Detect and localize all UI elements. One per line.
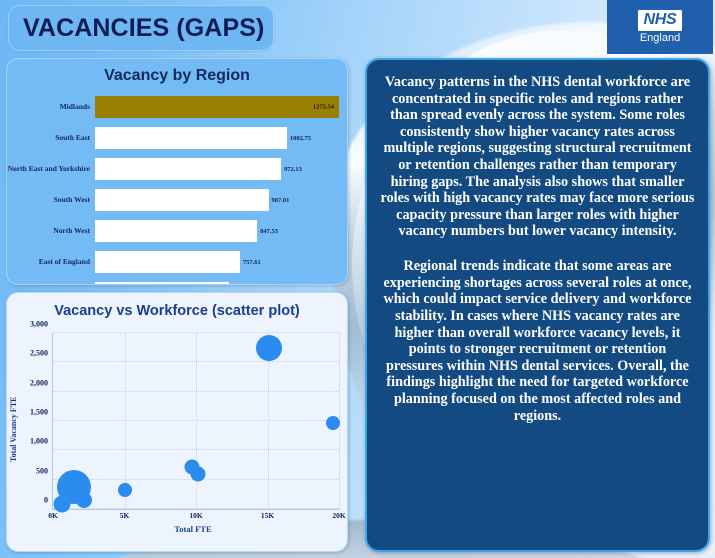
x-axis-tick-label: 5K [120, 509, 130, 520]
scatter-bubble[interactable] [256, 335, 282, 361]
y-axis-tick-label: 500 [36, 466, 53, 475]
bar-row[interactable]: East of England757.61 [7, 247, 339, 277]
scatter-bubble[interactable] [326, 416, 340, 430]
bar-fill[interactable] [95, 282, 229, 285]
page-title-label: VACANCIES (GAPS) [23, 14, 264, 43]
y-axis-tick-label: 0 [44, 496, 53, 505]
page-title: VACANCIES (GAPS) [8, 5, 274, 51]
scatter-bubble[interactable] [53, 496, 70, 513]
bar-fill[interactable] [95, 251, 240, 273]
bar-track: 1275.54 [95, 96, 339, 118]
bar-row[interactable]: North East and Yorkshire972.13 [7, 154, 339, 184]
dashboard-root: VACANCIES (GAPS) NHS England Vacancy by … [0, 0, 715, 558]
insight-paragraph-2: Regional trends indicate that some areas… [379, 258, 696, 424]
y-axis-tick-label: 3,000 [30, 320, 53, 329]
y-axis-tick-label: 1,000 [30, 437, 53, 446]
scatter-chart-body: Total Vacancy FTE 05001,0001,5002,0002,5… [7, 321, 348, 536]
bar-track: 972.13 [95, 158, 339, 180]
bar-category-label: North East and Yorkshire [7, 165, 95, 173]
x-axis-tick-label: 10K [189, 509, 202, 520]
insight-paragraph-1: Vacancy patterns in the NHS dental workf… [379, 74, 696, 240]
vacancy-by-region-panel[interactable]: Vacancy by Region Midlands1275.54South E… [6, 58, 348, 285]
bar-category-label: South West [7, 196, 95, 204]
insight-text-panel: Vacancy patterns in the NHS dental workf… [365, 58, 710, 552]
bar-category-label: North West [7, 227, 95, 235]
bar-row[interactable]: South East1002.75 [7, 123, 339, 153]
bar-value-label: 757.61 [243, 259, 261, 266]
bar-row[interactable]: South West907.01 [7, 185, 339, 215]
bar-track: 847.53 [95, 220, 339, 242]
bar-track: 699.12 [95, 282, 339, 285]
bar-value-label: 1275.54 [313, 104, 334, 111]
gridline-vertical [196, 333, 197, 509]
y-axis-tick-label: 1,500 [30, 408, 53, 417]
scatter-y-axis-title: Total Vacancy FTE [9, 369, 23, 489]
scatter-bubble[interactable] [76, 492, 92, 508]
bar-fill[interactable]: 1275.54 [95, 96, 339, 118]
bar-track: 1002.75 [95, 127, 339, 149]
y-axis-tick-label: 2,500 [30, 349, 53, 358]
x-axis-tick-label: 20K [332, 509, 345, 520]
scatter-chart-title: Vacancy vs Workforce (scatter plot) [7, 293, 347, 321]
bar-row[interactable]: Midlands1275.54 [7, 92, 339, 122]
y-axis-tick-label: 2,000 [30, 378, 53, 387]
bar-fill[interactable] [95, 158, 281, 180]
bar-value-label: 907.01 [272, 197, 290, 204]
bar-chart-plot: Midlands1275.54South East1002.75North Ea… [7, 89, 347, 285]
scatter-bubble[interactable] [191, 467, 206, 482]
vacancy-vs-workforce-panel[interactable]: Vacancy vs Workforce (scatter plot) Tota… [6, 292, 348, 552]
bar-track: 907.01 [95, 189, 339, 211]
scatter-x-axis-title: Total FTE [7, 524, 348, 534]
nhs-england-logo: NHS England [607, 0, 713, 54]
x-axis-tick-label: 15K [261, 509, 274, 520]
bar-row[interactable]: London699.12 [7, 278, 339, 285]
bar-value-label: 1002.75 [290, 135, 311, 142]
nhs-wordmark: NHS [638, 10, 683, 31]
bar-value-label: 847.53 [260, 228, 278, 235]
bar-fill[interactable] [95, 127, 287, 149]
scatter-plot-area: 05001,0001,5002,0002,5003,0000K5K10K15K2… [52, 333, 339, 510]
bar-row[interactable]: North West847.53 [7, 216, 339, 246]
bar-value-label: 972.13 [284, 166, 302, 173]
bar-chart-title: Vacancy by Region [7, 59, 347, 89]
nhs-sublabel: England [640, 33, 680, 44]
bar-category-label: South East [7, 134, 95, 142]
bar-track: 757.61 [95, 251, 339, 273]
bar-fill[interactable] [95, 189, 269, 211]
bar-category-label: Midlands [7, 103, 95, 111]
bar-fill[interactable] [95, 220, 257, 242]
bar-category-label: East of England [7, 258, 95, 266]
scatter-bubble[interactable] [118, 483, 132, 497]
